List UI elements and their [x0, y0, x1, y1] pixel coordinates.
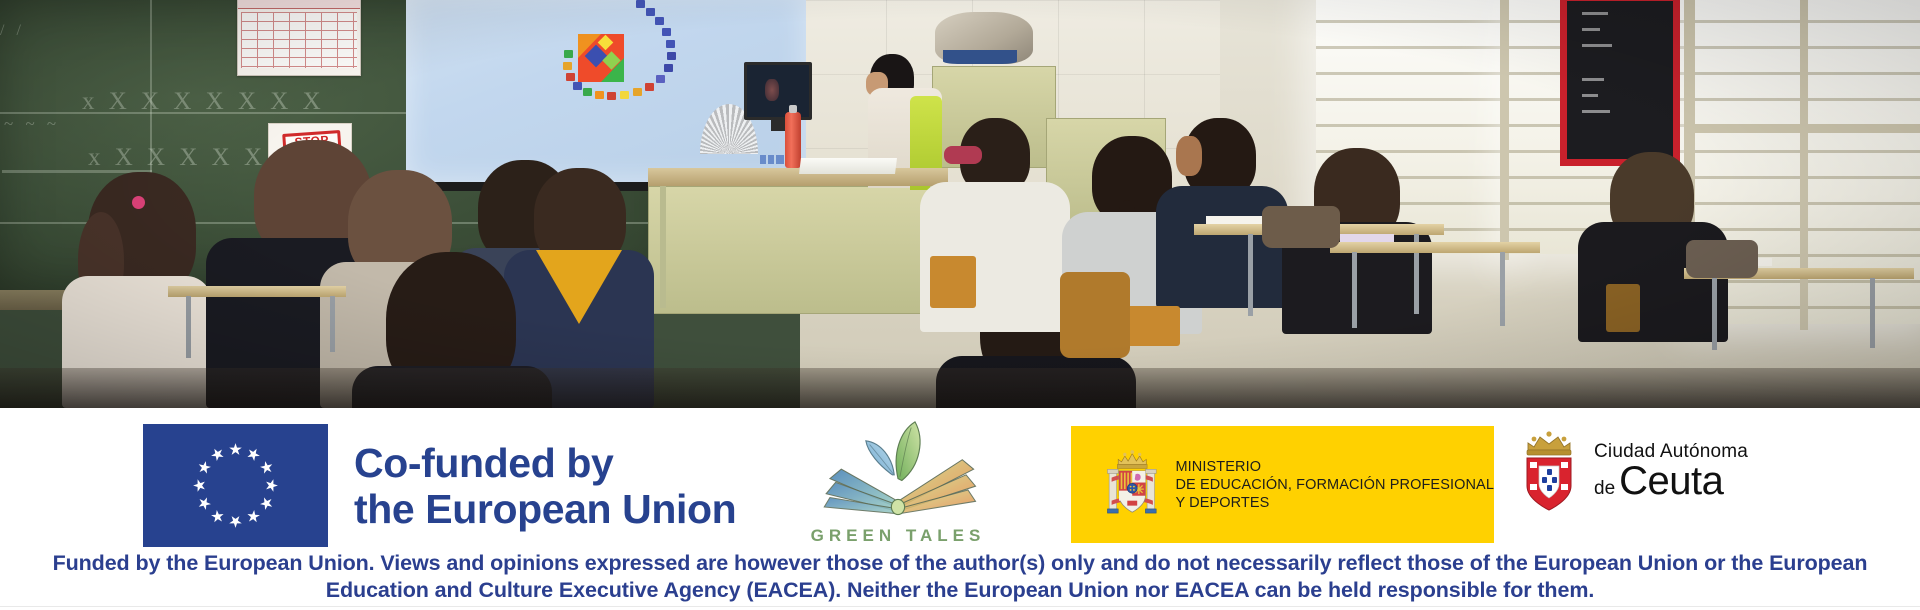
footer: Co-funded by the European Union — [0, 408, 1920, 610]
eu-line-2: the European Union — [354, 486, 736, 532]
ministerio-logo: MINISTERIO DE EDUCACIÓN, FORMACIÓN PROFE… — [1071, 426, 1494, 543]
desk-front-panel — [648, 186, 950, 314]
open-book-leaves-icon — [808, 420, 988, 524]
ceuta-name: Ceuta — [1619, 461, 1723, 501]
calendar-poster — [237, 0, 361, 76]
water-bottle — [785, 112, 801, 168]
ceuta-shield-icon — [1518, 428, 1580, 514]
page-root: x X X X X X X X x X X X X X X ~ ~ ~ / / … — [0, 0, 1920, 610]
ceuta-logo: Ciudad Autónoma de Ceuta — [1518, 428, 1748, 514]
eu-cofunded-text: Co-funded by the European Union — [354, 440, 736, 532]
computer-monitor — [744, 62, 812, 120]
chair — [1606, 284, 1640, 332]
green-tales-logo: GREEN TALES — [808, 420, 988, 548]
classroom-floor — [0, 368, 1920, 408]
backpack — [1262, 206, 1340, 248]
student-desk-right — [1330, 242, 1540, 253]
notebook — [1340, 234, 1394, 242]
red-noticeboard — [1560, 0, 1680, 166]
backpack — [1060, 272, 1130, 358]
funder-logo-row: Co-funded by the European Union — [0, 408, 1920, 540]
green-tales-label: GREEN TALES — [808, 526, 988, 546]
student-desk-left — [168, 286, 346, 297]
chair — [930, 256, 976, 308]
ministerio-line-1: MINISTERIO — [1175, 458, 1494, 476]
screen-watermark-icon — [760, 155, 784, 164]
eu-line-1: Co-funded by — [354, 440, 736, 486]
ceuta-text: Ciudad Autónoma de Ceuta — [1594, 442, 1748, 501]
notebook — [1206, 216, 1268, 224]
backpack — [1686, 240, 1758, 278]
teacher-desk — [648, 168, 948, 186]
tangram-graphic — [578, 34, 624, 82]
desk-papers — [799, 158, 897, 174]
ministerio-line-3: Y DEPORTES — [1175, 494, 1494, 512]
ministerio-text: MINISTERIO DE EDUCACIÓN, FORMACIÓN PROFE… — [1175, 458, 1494, 512]
eu-disclaimer-text: Funded by the European Union. Views and … — [0, 550, 1920, 604]
eu-cofunded-logo: Co-funded by the European Union — [143, 424, 736, 547]
footer-divider — [0, 606, 1920, 607]
spain-coat-of-arms-icon — [1105, 442, 1159, 528]
ceuta-de: de — [1594, 479, 1615, 498]
silver-bag — [935, 12, 1033, 64]
eu-flag-icon — [143, 424, 328, 547]
ministerio-line-2: DE EDUCACIÓN, FORMACIÓN PROFESIONAL — [1175, 476, 1494, 494]
classroom-photo: x X X X X X X X x X X X X X X ~ ~ ~ / / … — [0, 0, 1920, 408]
ceuta-line-1: Ciudad Autónoma — [1594, 442, 1748, 461]
